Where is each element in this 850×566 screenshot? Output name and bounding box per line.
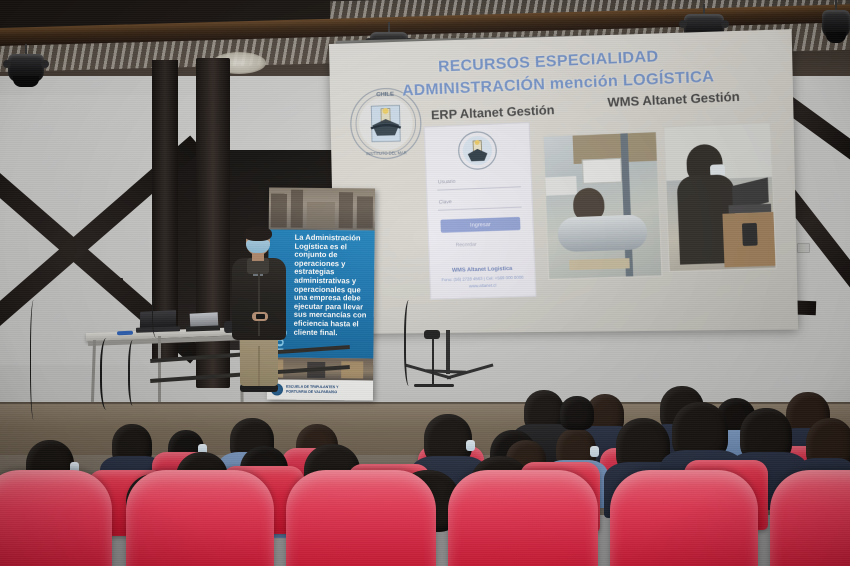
audience-person — [560, 396, 594, 430]
erp-footer-url: www.altanet.cl — [431, 281, 535, 289]
table-leg — [158, 336, 161, 402]
erp-login-screenshot: Usuario Clave Ingresar Recordar WMS Alta… — [424, 122, 537, 300]
presenter-hair — [244, 226, 272, 241]
svg-text:INSTITUTO DEL MAR: INSTITUTO DEL MAR — [366, 150, 407, 156]
erp-password-label: Clave — [439, 199, 452, 206]
floor-cable — [404, 300, 416, 386]
auditorium-seat-foreground — [610, 470, 758, 566]
banner-top-photo — [269, 187, 375, 230]
erp-user-label: Usuario — [438, 179, 456, 186]
stage-light-icon — [822, 0, 850, 40]
wall-cable — [30, 300, 39, 420]
face-mask — [466, 440, 475, 451]
wall-cable — [152, 292, 163, 338]
erp-footer-title: WMS Altanet Logistica — [430, 265, 534, 274]
erp-logo-icon — [456, 129, 498, 171]
microphone-stand-base — [414, 384, 454, 387]
wall-outlet-right-icon — [797, 243, 810, 253]
banner-footer-line-2: PORTUARIA DE VALPARAÍSO — [286, 390, 339, 395]
auditorium-seat-foreground — [126, 470, 274, 566]
slide-photo-student-laptop — [663, 122, 777, 272]
power-cable — [128, 340, 140, 406]
presenter-face-mask — [246, 240, 270, 253]
power-cable — [100, 338, 116, 410]
presenter-handheld-device — [256, 314, 265, 319]
erp-submit-button: Ingresar — [440, 217, 520, 233]
foreground-seat-row — [0, 470, 850, 566]
auditorium-seat-foreground — [0, 470, 112, 566]
auditorium-seat-foreground — [448, 470, 598, 566]
projection-screen: CHILE INSTITUTO DEL MAR RECURSOS ESPECIA… — [332, 44, 780, 334]
erp-password-field: Clave — [438, 196, 522, 210]
auditorium-seat-foreground — [770, 470, 850, 566]
slide-subtitle-erp: ERP Altanet Gestión — [431, 103, 555, 123]
slide-photo-warehouse — [543, 131, 663, 280]
presenter-person — [228, 228, 290, 396]
presenter-leg-split — [258, 346, 260, 386]
face-mask — [590, 446, 599, 457]
banner-body-text: La Administración Logística es el conjun… — [294, 234, 371, 338]
slide-subtitle-wms: WMS Altanet Gestión — [607, 90, 740, 110]
presenter-jacket-zipper — [258, 272, 260, 336]
banner-footer-text: ESCUELA DE TRIPULANTES Y PORTUARIA DE VA… — [286, 385, 339, 395]
svg-text:CHILE: CHILE — [376, 92, 394, 99]
microphone-stand — [432, 338, 434, 386]
auditorium-photo: CHILE INSTITUTO DEL MAR RECURSOS ESPECIA… — [0, 0, 850, 566]
blue-desk-object — [117, 331, 133, 336]
erp-user-field: Usuario — [437, 176, 521, 190]
erp-remember-checkbox: Recordar — [456, 242, 477, 249]
auditorium-seat-foreground — [286, 470, 436, 566]
stage-light-icon — [8, 44, 44, 92]
projection-screen-surface: CHILE INSTITUTO DEL MAR RECURSOS ESPECIA… — [329, 29, 798, 334]
